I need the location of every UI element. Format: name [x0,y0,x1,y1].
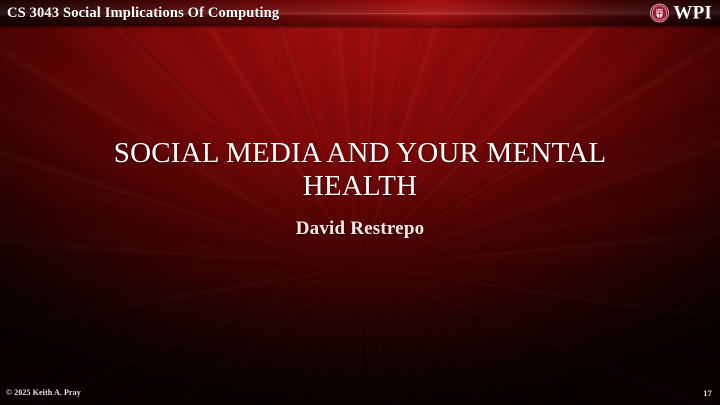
copyright-notice: © 2025 Keith A. Pray [6,388,81,398]
wpi-logo: WPI [650,4,712,23]
presentation-slide: CS 3043 Social Implications Of Computing… [0,0,720,405]
page-number: 17 [703,388,712,398]
slide-content: SOCIAL MEDIA AND YOUR MENTAL HEALTH Davi… [0,26,720,405]
title-block: SOCIAL MEDIA AND YOUR MENTAL HEALTH Davi… [60,137,660,240]
slide-header-bar: CS 3043 Social Implications Of Computing… [0,0,720,26]
slide-title: SOCIAL MEDIA AND YOUR MENTAL HEALTH [60,137,660,203]
wpi-wordmark: WPI [673,4,712,23]
wpi-seal-icon [650,4,669,23]
slide-subtitle-author: David Restrepo [60,217,660,240]
course-title: CS 3043 Social Implications Of Computing [7,5,279,22]
